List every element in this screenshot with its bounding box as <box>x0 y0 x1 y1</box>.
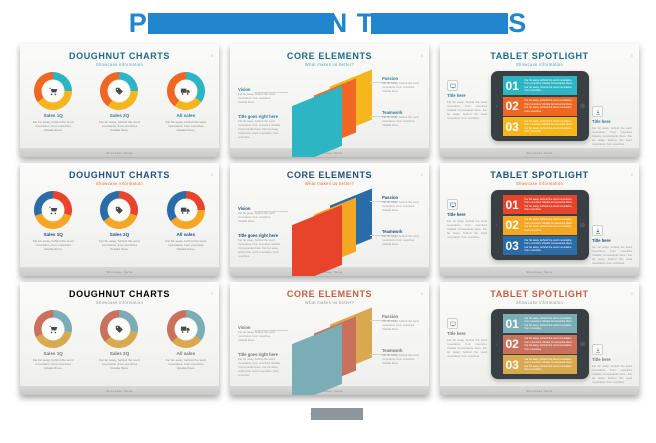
tablet-row-text: Far far away, behind the word mountains,… <box>525 239 574 253</box>
tablet-home-button[interactable] <box>580 342 585 347</box>
doughnut-ring <box>167 310 205 348</box>
side-left-title: Title here <box>447 212 487 217</box>
slide-footer: Showcase Name <box>440 148 639 157</box>
doughnut-chart-item[interactable]: Sales 1QFar far away, behind the word mo… <box>24 310 82 370</box>
tablet-content-row[interactable]: 02Far far away, behind the word mountain… <box>503 97 577 116</box>
doughnut-body-text: Far far away, behind the word mountains,… <box>157 120 215 133</box>
slide-footer: Showcase Name <box>20 148 219 157</box>
doughnut-label: Sales 2Q <box>90 113 148 118</box>
core-body-vision: Far far away, behind the word mountains,… <box>238 93 278 105</box>
core-body-extra: Far far away, behind the word mountains,… <box>238 358 282 378</box>
panel-front[interactable] <box>292 324 342 395</box>
doughnut-label: Sales 1Q <box>24 351 82 356</box>
panel-front[interactable] <box>292 86 342 157</box>
core-body-vision: Far far away, behind the word mountains,… <box>238 331 278 343</box>
download-icon <box>592 106 603 117</box>
tablet-camera-icon <box>496 343 498 345</box>
panel-front[interactable] <box>292 205 342 276</box>
truck-icon <box>175 319 196 340</box>
tablet-row-number: 02 <box>506 218 522 232</box>
tablet-row-number: 02 <box>506 99 522 113</box>
tablet-row-number: 01 <box>506 198 522 212</box>
tablet-content-row[interactable]: 03Far far away, behind the word mountain… <box>503 117 577 136</box>
doughnut-body-text: Far far away, behind the word mountains,… <box>90 239 148 252</box>
side-right-body: Far far away, behind the word mountains,… <box>592 364 632 384</box>
slide-corner-mark: 0 <box>211 291 213 296</box>
title-redaction-block-2 <box>371 13 508 34</box>
slide-title: DOUGHNUT CHARTS <box>20 51 219 61</box>
core-body-teamwork: Far far away, behind the word mountains,… <box>382 235 422 247</box>
tablet-row-text: Far far away, behind the word mountains,… <box>525 120 574 134</box>
layered-panels-diagram <box>288 193 378 261</box>
doughnut-body-text: Far far away, behind the word mountains,… <box>24 120 82 133</box>
doughnut-label: Sales 2Q <box>90 232 148 237</box>
tablet-row-text: Far far away, behind the word mountains,… <box>525 337 574 351</box>
slide-thumbnail-core-elements-muted[interactable]: CORE ELEMENTSWhat makes us better?0Showc… <box>230 282 429 395</box>
download-icon <box>592 225 603 236</box>
tablet-row-text: Far far away, behind the word mountains,… <box>525 198 574 212</box>
slide-corner-mark: 0 <box>631 291 633 296</box>
slide-thumbnail-doughnut-charts-muted[interactable]: DOUGHNUT CHARTSShowcase information0Show… <box>20 282 219 395</box>
doughnut-chart-row: Sales 1QFar far away, behind the word mo… <box>20 191 219 251</box>
tablet-camera-icon <box>496 105 498 107</box>
core-body-passion: Far far away, behind the word mountains,… <box>382 320 422 332</box>
side-block-left[interactable]: Title hereFar far away, behind the word … <box>447 318 487 358</box>
title-redaction-block-1 <box>148 13 334 34</box>
doughnut-ring <box>34 72 72 110</box>
tablet-row-text: Far far away, behind the word mountains,… <box>525 358 574 372</box>
slide-footer: Showcase Name <box>20 386 219 395</box>
slide-title: TABLET SPOTLIGHT <box>440 170 639 180</box>
doughnut-chart-item[interactable]: Sales 2QFar far away, behind the word mo… <box>90 72 148 132</box>
doughnut-label: Sales 2Q <box>90 351 148 356</box>
side-block-right[interactable]: Title hereFar far away, behind the word … <box>592 106 632 146</box>
monitor-icon <box>447 199 458 210</box>
layered-panels-diagram <box>288 74 378 142</box>
doughnut-ring <box>167 72 205 110</box>
doughnut-body-text: Far far away, behind the word mountains,… <box>90 120 148 133</box>
tablet-home-button[interactable] <box>580 104 585 109</box>
doughnut-label: Sales 1Q <box>24 113 82 118</box>
slide-corner-mark: 0 <box>211 172 213 177</box>
slide-title: TABLET SPOTLIGHT <box>440 51 639 61</box>
slide-thumbnail-core-elements-teal[interactable]: CORE ELEMENTSWhat makes us better?0Showc… <box>230 44 429 157</box>
shopping-cart-icon <box>43 319 64 340</box>
tablet-content-row[interactable]: 01Far far away, behind the word mountain… <box>503 314 577 333</box>
slide-subtitle: Showcase information <box>440 62 639 67</box>
monitor-icon <box>447 80 458 91</box>
doughnut-ring <box>167 191 205 229</box>
core-body-teamwork: Far far away, behind the word mountains,… <box>382 116 422 128</box>
doughnut-ring <box>100 191 138 229</box>
doughnut-chart-item[interactable]: Sales 1QFar far away, behind the word mo… <box>24 191 82 251</box>
doughnut-label: All sales <box>157 113 215 118</box>
doughnut-chart-row: Sales 1QFar far away, behind the word mo… <box>20 72 219 132</box>
doughnut-body-text: Far far away, behind the word mountains,… <box>24 239 82 252</box>
tablet-row-number: 01 <box>506 79 522 93</box>
side-left-body: Far far away, behind the word mountains,… <box>447 338 487 358</box>
download-icon <box>592 344 603 355</box>
doughnut-chart-item[interactable]: All salesFar far away, behind the word m… <box>157 310 215 370</box>
tablet-row-number: 01 <box>506 317 522 331</box>
core-body-passion: Far far away, behind the word mountains,… <box>382 82 422 94</box>
doughnut-label: Sales 1Q <box>24 232 82 237</box>
core-body-vision: Far far away, behind the word mountains,… <box>238 212 278 224</box>
slide-footer: Showcase Name <box>440 386 639 395</box>
doughnut-ring <box>34 191 72 229</box>
bottom-caption-redaction-block <box>311 408 363 420</box>
core-body-extra: Far far away, behind the word mountains,… <box>238 239 282 259</box>
tablet-content-row[interactable]: 02Far far away, behind the word mountain… <box>503 216 577 235</box>
tablet-row-number: 03 <box>506 239 522 253</box>
slide-thumbnail-tablet-spotlight-teal[interactable]: TABLET SPOTLIGHTShowcase information0Sho… <box>440 44 639 157</box>
tags-icon <box>109 200 130 221</box>
doughnut-body-text: Far far away, behind the word mountains,… <box>157 358 215 371</box>
tablet-device: 01Far far away, behind the word mountain… <box>491 309 589 379</box>
slide-thumbnail-tablet-spotlight-red[interactable]: TABLET SPOTLIGHTShowcase information0Sho… <box>440 163 639 276</box>
side-left-body: Far far away, behind the word mountains,… <box>447 219 487 239</box>
tablet-content-row[interactable]: 01Far far away, behind the word mountain… <box>503 76 577 95</box>
side-left-title: Title here <box>447 93 487 98</box>
doughnut-chart-item[interactable]: Sales 2QFar far away, behind the word mo… <box>90 310 148 370</box>
doughnut-body-text: Far far away, behind the word mountains,… <box>90 358 148 371</box>
slide-corner-mark: 0 <box>631 53 633 58</box>
doughnut-body-text: Far far away, behind the word mountains,… <box>24 358 82 371</box>
slide-footer: Showcase Name <box>440 267 639 276</box>
doughnut-label: All sales <box>157 351 215 356</box>
tablet-home-button[interactable] <box>580 223 585 228</box>
tablet-screen: 01Far far away, behind the word mountain… <box>503 314 577 374</box>
slide-corner-mark: 0 <box>421 53 423 58</box>
tablet-row-number: 02 <box>506 337 522 351</box>
slide-title: CORE ELEMENTS <box>230 289 429 299</box>
side-right-body: Far far away, behind the word mountains,… <box>592 126 632 146</box>
side-block-right[interactable]: Title hereFar far away, behind the word … <box>592 344 632 384</box>
side-left-title: Title here <box>447 331 487 336</box>
slide-thumbnail-grid: DOUGHNUT CHARTSShowcase information0Show… <box>20 44 640 396</box>
doughnut-ring <box>34 310 72 348</box>
slide-title: CORE ELEMENTS <box>230 170 429 180</box>
slide-subtitle: What makes us better? <box>230 300 429 305</box>
slide-subtitle: Showcase information <box>20 181 219 186</box>
slide-title: CORE ELEMENTS <box>230 51 429 61</box>
side-right-body: Far far away, behind the word mountains,… <box>592 245 632 265</box>
slide-footer: Showcase Name <box>20 267 219 276</box>
slide-subtitle: What makes us better? <box>230 62 429 67</box>
tablet-content-row[interactable]: 01Far far away, behind the word mountain… <box>503 195 577 214</box>
shopping-cart-icon <box>43 200 64 221</box>
side-block-left[interactable]: Title hereFar far away, behind the word … <box>447 199 487 239</box>
doughnut-chart-row: Sales 1QFar far away, behind the word mo… <box>20 310 219 370</box>
doughnut-chart-item[interactable]: All salesFar far away, behind the word m… <box>157 72 215 132</box>
shopping-cart-icon <box>43 81 64 102</box>
monitor-icon <box>447 318 458 329</box>
side-left-body: Far far away, behind the word mountains,… <box>447 100 487 120</box>
core-body-teamwork: Far far away, behind the word mountains,… <box>382 354 422 366</box>
tablet-screen: 01Far far away, behind the word mountain… <box>503 195 577 255</box>
layered-panels-diagram <box>288 312 378 380</box>
slide-title: DOUGHNUT CHARTS <box>20 289 219 299</box>
slide-thumbnail-tablet-spotlight-muted[interactable]: TABLET SPOTLIGHTShowcase information0Sho… <box>440 282 639 395</box>
tablet-content-row[interactable]: 03Far far away, behind the word mountain… <box>503 236 577 255</box>
truck-icon <box>175 200 196 221</box>
tags-icon <box>109 81 130 102</box>
presentation-preview-page: PRESENTATION TEMPLATES DOUGHNUT CHARTSSh… <box>0 0 656 443</box>
slide-subtitle: Showcase information <box>20 62 219 67</box>
doughnut-chart-item[interactable]: Sales 2QFar far away, behind the word mo… <box>90 191 148 251</box>
side-right-title: Title here <box>592 357 632 362</box>
tablet-device: 01Far far away, behind the word mountain… <box>491 190 589 260</box>
slide-title: DOUGHNUT CHARTS <box>20 170 219 180</box>
tablet-row-number: 03 <box>506 358 522 372</box>
tablet-row-text: Far far away, behind the word mountains,… <box>525 79 574 93</box>
tablet-row-text: Far far away, behind the word mountains,… <box>525 99 574 113</box>
slide-title: TABLET SPOTLIGHT <box>440 289 639 299</box>
side-block-right[interactable]: Title hereFar far away, behind the word … <box>592 225 632 265</box>
slide-subtitle: Showcase information <box>440 181 639 186</box>
tablet-content-row[interactable]: 03Far far away, behind the word mountain… <box>503 355 577 374</box>
tablet-camera-icon <box>496 224 498 226</box>
core-body-extra: Far far away, behind the word mountains,… <box>238 120 282 140</box>
tags-icon <box>109 319 130 340</box>
doughnut-ring <box>100 72 138 110</box>
tablet-row-text: Far far away, behind the word mountains,… <box>525 218 574 232</box>
doughnut-ring <box>100 310 138 348</box>
slide-corner-mark: 0 <box>211 53 213 58</box>
doughnut-chart-item[interactable]: All salesFar far away, behind the word m… <box>157 191 215 251</box>
doughnut-body-text: Far far away, behind the word mountains,… <box>157 239 215 252</box>
tablet-row-number: 03 <box>506 120 522 134</box>
side-block-left[interactable]: Title hereFar far away, behind the word … <box>447 80 487 120</box>
doughnut-label: All sales <box>157 232 215 237</box>
tablet-screen: 01Far far away, behind the word mountain… <box>503 76 577 136</box>
tablet-content-row[interactable]: 02Far far away, behind the word mountain… <box>503 335 577 354</box>
slide-thumbnail-core-elements-red[interactable]: CORE ELEMENTSWhat makes us better?0Showc… <box>230 163 429 276</box>
slide-subtitle: Showcase information <box>440 300 639 305</box>
slide-corner-mark: 0 <box>421 172 423 177</box>
slide-thumbnail-doughnut-charts-teal[interactable]: DOUGHNUT CHARTSShowcase information0Show… <box>20 44 219 157</box>
side-right-title: Title here <box>592 238 632 243</box>
side-right-title: Title here <box>592 119 632 124</box>
slide-subtitle: Showcase information <box>20 300 219 305</box>
core-body-passion: Far far away, behind the word mountains,… <box>382 201 422 213</box>
tablet-row-text: Far far away, behind the word mountains,… <box>525 317 574 331</box>
slide-corner-mark: 0 <box>631 172 633 177</box>
slide-subtitle: What makes us better? <box>230 181 429 186</box>
slide-thumbnail-doughnut-charts-red[interactable]: DOUGHNUT CHARTSShowcase information0Show… <box>20 163 219 276</box>
tablet-device: 01Far far away, behind the word mountain… <box>491 71 589 141</box>
doughnut-chart-item[interactable]: Sales 1QFar far away, behind the word mo… <box>24 72 82 132</box>
truck-icon <box>175 81 196 102</box>
slide-corner-mark: 0 <box>421 291 423 296</box>
